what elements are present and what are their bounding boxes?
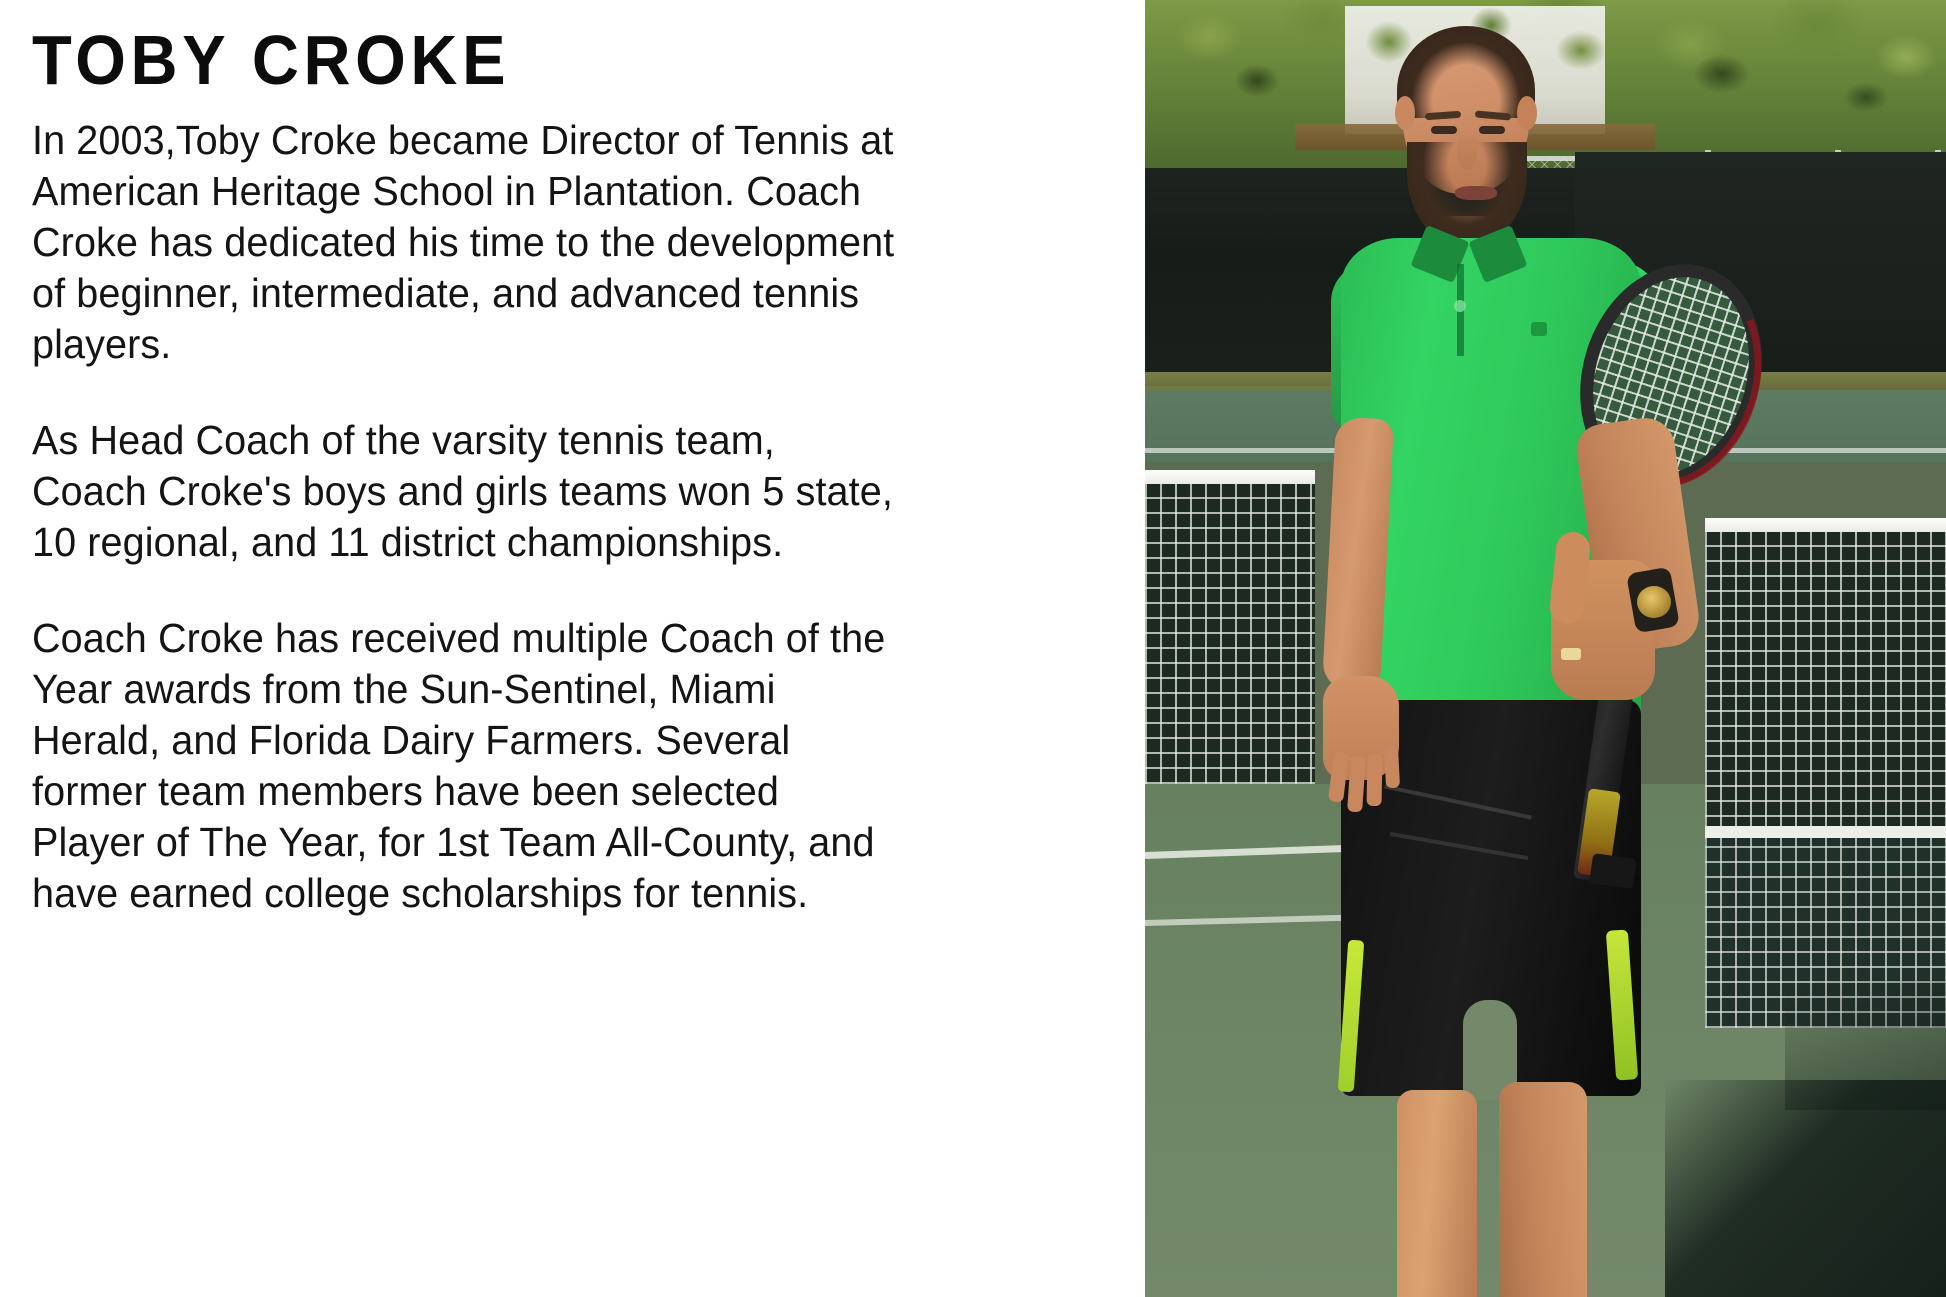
racket-butt-cap [1589, 853, 1637, 889]
leg [1499, 1082, 1587, 1297]
text-column: TOBY CROKE In 2003,Toby Croke became Dir… [0, 0, 1145, 1297]
hair [1397, 26, 1535, 118]
polo-logo [1531, 322, 1547, 336]
page-title: TOBY CROKE [32, 23, 1067, 97]
polo-button [1454, 300, 1466, 312]
wedding-ring [1561, 648, 1581, 660]
bio-paragraph-1: In 2003,Toby Croke became Director of Te… [32, 115, 901, 370]
mouth [1455, 186, 1497, 200]
bio-slide: TOBY CROKE In 2003,Toby Croke became Dir… [0, 0, 1946, 1297]
coach-photo [1145, 0, 1946, 1297]
finger [1367, 754, 1383, 806]
leg [1397, 1090, 1477, 1297]
ear [1395, 96, 1415, 130]
wristwatch-face [1637, 586, 1671, 618]
bio-body: In 2003,Toby Croke became Director of Te… [32, 115, 932, 919]
eye [1431, 126, 1457, 134]
bio-paragraph-3: Coach Croke has received multiple Coach … [32, 613, 901, 919]
finger [1384, 746, 1400, 789]
court-shadow [1665, 1080, 1946, 1297]
bio-paragraph-2: As Head Coach of the varsity tennis team… [32, 415, 901, 568]
ear [1517, 96, 1537, 130]
eye [1479, 126, 1505, 134]
